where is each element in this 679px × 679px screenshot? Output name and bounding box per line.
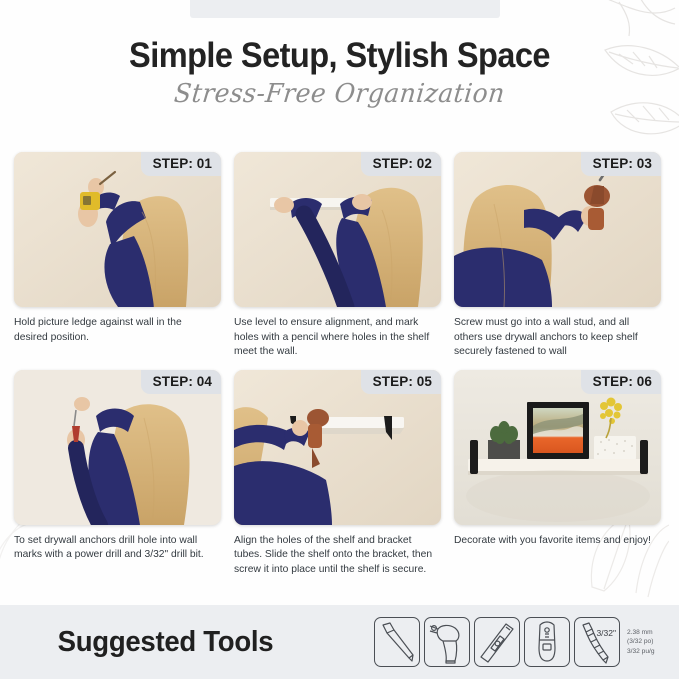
step-caption: Align the holes of the shelf and bracket… — [234, 534, 441, 578]
page-subtitle: Stress-Free Organization — [12, 79, 667, 109]
suggested-tools-title: Suggested Tools — [58, 626, 274, 659]
step-caption: Use level to ensure alignment, and mark … — [234, 316, 441, 360]
tool-item-power-drill — [424, 617, 470, 667]
metric-line-3: 3/32 pu/g — [627, 647, 671, 656]
step-badge: STEP: 05 — [361, 370, 441, 394]
step-badge: STEP: 04 — [141, 370, 221, 394]
step-card: STEP: 02 Use level to ensure alignment, … — [234, 152, 441, 360]
step-badge: STEP: 06 — [581, 370, 661, 394]
metric-conversion-block: 2.38 mm (3/32 po) 3/32 pu/g — [627, 628, 671, 656]
steps-grid: STEP: 01 Hold picture ledge against wall… — [14, 152, 666, 578]
power-drill-icon — [425, 618, 469, 666]
tool-item-stud-finder — [524, 617, 570, 667]
drill-bit-icon — [575, 618, 619, 666]
drill-bit-size-label: 3/32" — [596, 628, 616, 638]
step-badge: STEP: 01 — [141, 152, 221, 176]
top-accent-bar — [190, 0, 500, 18]
metric-line-2: (3/32 po) — [627, 637, 671, 646]
tool-item-level — [474, 617, 520, 667]
tool-icon-list: 3/32" 2.38 mm (3/32 po) 3/32 pu/g — [374, 617, 671, 667]
step-card: STEP: 04 To set drywall anchors drill ho… — [14, 370, 221, 578]
step-card: STEP: 03 Screw must go into a wall stud,… — [454, 152, 661, 360]
page-title: Simple Setup, Stylish Space — [24, 38, 655, 75]
stud-finder-icon — [525, 618, 569, 666]
step-caption: Hold picture ledge against wall in the d… — [14, 316, 221, 345]
tool-item-drill-bit: 3/32" — [574, 617, 620, 667]
pencil-icon — [375, 618, 419, 666]
step-badge: STEP: 03 — [581, 152, 661, 176]
page-header: Simple Setup, Stylish Space Stress-Free … — [0, 38, 679, 109]
step-badge: STEP: 02 — [361, 152, 441, 176]
level-icon — [475, 618, 519, 666]
tool-item-pencil — [374, 617, 420, 667]
step-card: STEP: 05 Align the holes of the shelf an… — [234, 370, 441, 578]
step-card: STEP: 06 Decorate with you favorite item… — [454, 370, 661, 578]
suggested-tools-bar: Suggested Tools — [0, 605, 679, 679]
step-caption: Decorate with you favorite items and enj… — [454, 534, 661, 549]
step-card: STEP: 01 Hold picture ledge against wall… — [14, 152, 221, 360]
step-caption: Screw must go into a wall stud, and all … — [454, 316, 661, 360]
step-caption: To set drywall anchors drill hole into w… — [14, 534, 221, 563]
metric-line-1: 2.38 mm — [627, 628, 671, 637]
infographic-page: Simple Setup, Stylish Space Stress-Free … — [0, 0, 679, 679]
